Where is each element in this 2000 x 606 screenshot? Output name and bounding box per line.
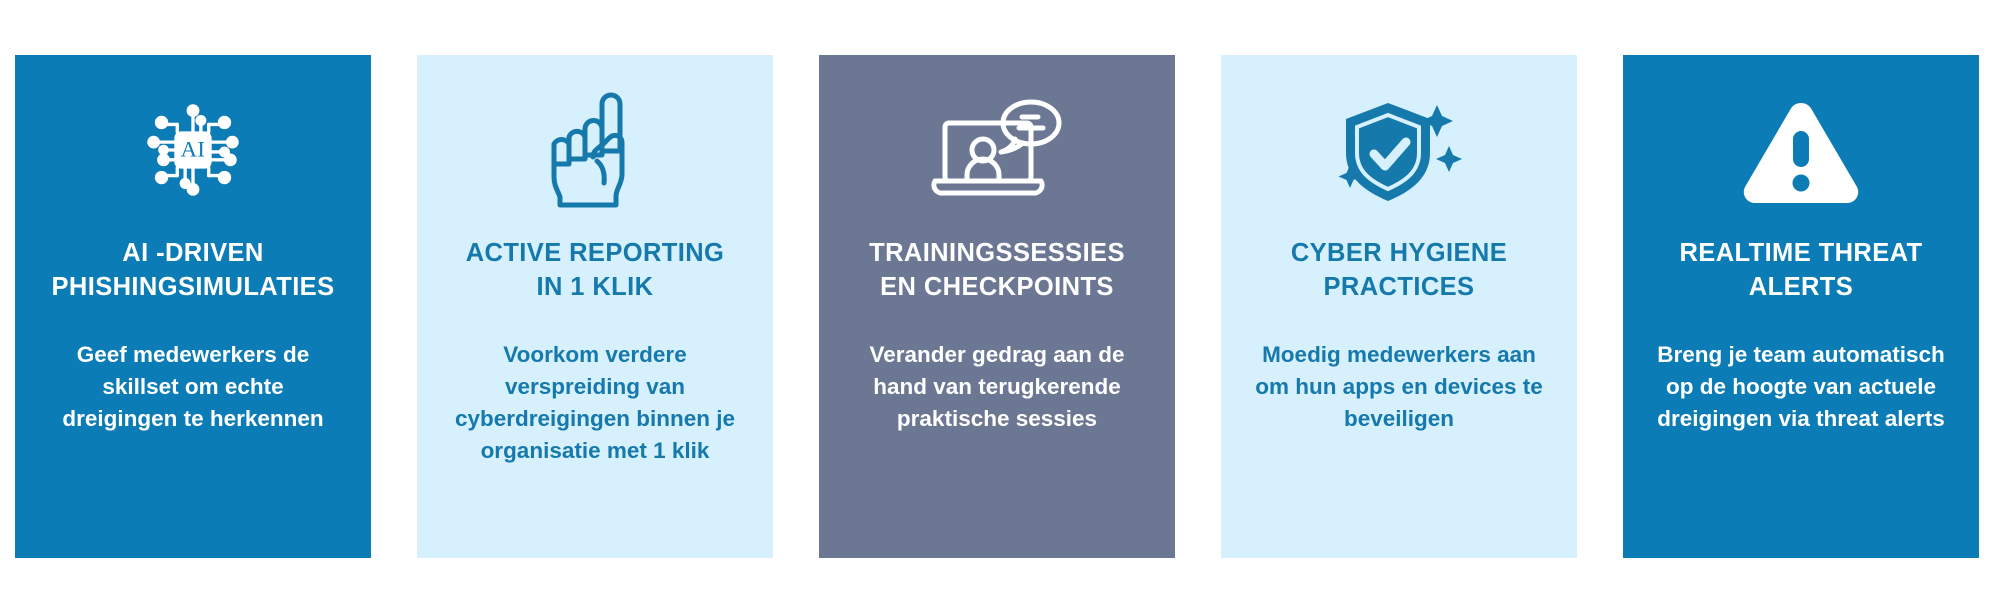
feature-card-deck: AI AI -DRIVEN PHISHINGSIMULATIES Geef me…	[0, 0, 2000, 606]
feature-card-realtime-threat-alerts[interactable]: REALTIME THREAT ALERTS Breng je team aut…	[1623, 55, 1979, 558]
feature-card-cyber-hygiene-practices[interactable]: CYBER HYGIENE PRACTICES Moedig medewerke…	[1221, 55, 1577, 558]
feature-card-ai-driven-phishingsimulaties[interactable]: AI AI -DRIVEN PHISHINGSIMULATIES Geef me…	[15, 55, 371, 558]
card-title: ACTIVE REPORTING IN 1 KLIK	[466, 237, 725, 305]
svg-text:AI: AI	[181, 136, 206, 161]
card-title: CYBER HYGIENE PRACTICES	[1291, 237, 1507, 305]
card-title: TRAININGSSESSIES EN CHECKPOINTS	[869, 237, 1125, 305]
card-body: Verander gedrag aan de hand van terugker…	[865, 339, 1128, 435]
ai-chip-icon: AI	[134, 85, 252, 215]
card-body: Moedig medewerkers aan om hun apps en de…	[1251, 339, 1547, 435]
shield-check-icon	[1336, 85, 1462, 215]
card-title: REALTIME THREAT ALERTS	[1679, 237, 1922, 305]
feature-card-trainingssessies-en-checkpoints[interactable]: TRAININGSSESSIES EN CHECKPOINTS Verander…	[819, 55, 1175, 558]
card-body: Breng je team automatisch op de hoogte v…	[1653, 339, 1949, 435]
card-body: Geef medewerkers de skillset om echte dr…	[58, 339, 327, 435]
warning-triangle-icon	[1741, 85, 1861, 215]
pointing-hand-icon	[539, 85, 651, 215]
laptop-training-icon	[927, 85, 1067, 215]
feature-card-active-reporting-in-1-klik[interactable]: ACTIVE REPORTING IN 1 KLIK Voorkom verde…	[417, 55, 773, 558]
card-title: AI -DRIVEN PHISHINGSIMULATIES	[52, 237, 335, 305]
card-body: Voorkom verdere verspreiding van cyberdr…	[451, 339, 739, 467]
